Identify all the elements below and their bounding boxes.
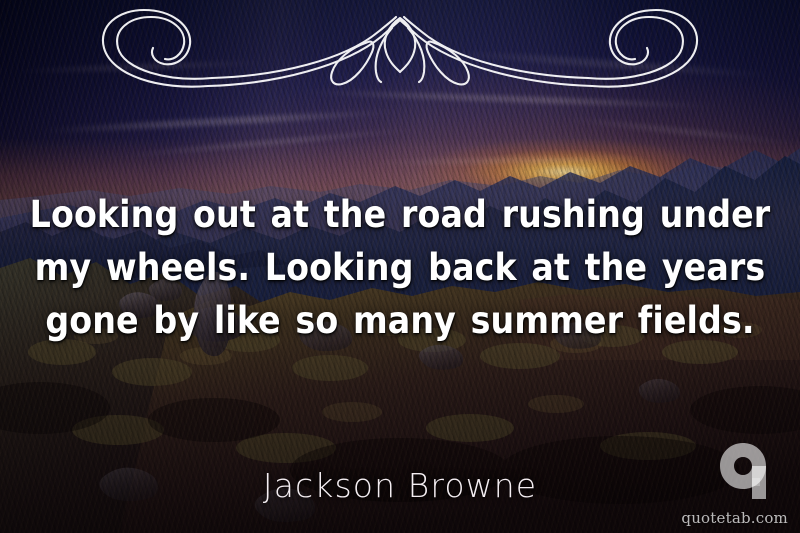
decorative-flourish-ornament	[96, 2, 704, 94]
quote-author: Jackson Browne	[0, 466, 800, 505]
watermark-site-label[interactable]: quotetab.com	[681, 509, 788, 527]
quote-card: Looking out at the road rushing under my…	[0, 0, 800, 533]
quote-text: Looking out at the road rushing under my…	[0, 188, 800, 347]
watermark[interactable]: quotetab.com	[688, 441, 792, 527]
quotetab-q-logo-icon[interactable]	[718, 441, 770, 501]
